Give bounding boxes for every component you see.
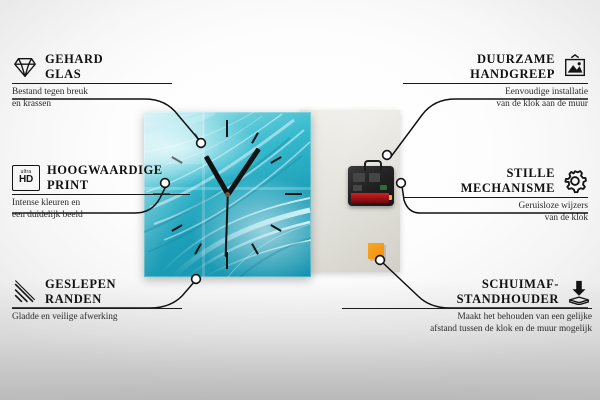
feature-desc-line1: Eenvoudige installatie [403, 87, 588, 98]
feature-schuimafstandhouder[interactable]: SCHUIMAF- STANDHOUDER Maakt het behouden… [342, 277, 592, 335]
feature-stille-mechanisme[interactable]: STILLE MECHANISME Geruisloze wijzers van… [403, 166, 588, 224]
feature-duurzame-handgreep[interactable]: DUURZAME HANDGREEP Eenvoudige installati… [403, 52, 588, 110]
feature-title-line1: DUURZAME [470, 52, 555, 67]
feature-title-line2: RANDEN [45, 292, 116, 307]
diagonal-lines-icon [12, 279, 38, 305]
divider [12, 194, 190, 195]
movement-detail [353, 185, 362, 191]
feature-desc-line1: Gladde en veilige afwerking [12, 312, 182, 323]
divider [403, 197, 588, 198]
feature-desc-line1: Intense kleuren en [12, 198, 190, 209]
feature-title-line2: MECHANISME [461, 181, 555, 196]
feature-hoogwaardige-print[interactable]: ultra HD HOOGWAARDIGE PRINT Intense kleu… [12, 163, 190, 221]
gear-icon [562, 168, 588, 194]
feature-title-line1: HOOGWAARDIGE [47, 163, 163, 178]
clock-tick [285, 193, 302, 195]
feature-gehard-glas[interactable]: GEHARD GLAS Bestand tegen breuk en krass… [12, 52, 172, 110]
movement-detail [380, 185, 387, 190]
feature-header: DUURZAME HANDGREEP [403, 52, 588, 81]
feature-header: ultra HD HOOGWAARDIGE PRINT [12, 163, 190, 192]
feature-desc-line2: van de klok [403, 213, 588, 224]
movement-detail [369, 173, 380, 182]
ultra-hd-bottom-label: HD [19, 175, 33, 185]
feature-desc-line2: afstand tussen de klok en de muur mogeli… [342, 324, 592, 335]
feature-header: STILLE MECHANISME [403, 166, 588, 195]
foam-spacer [368, 243, 384, 259]
feature-header: GESLEPEN RANDEN [12, 277, 182, 306]
feature-desc-line2: en krassen [12, 99, 172, 110]
picture-frame-icon [562, 54, 588, 80]
feature-title-line1: STILLE [461, 166, 555, 181]
feature-desc-line1: Maakt het behouden van een gelijke [342, 312, 592, 323]
ultra-hd-icon: ultra HD [12, 165, 40, 191]
feature-title-line2: PRINT [47, 178, 163, 193]
arrow-down-spacer-icon [566, 279, 592, 305]
divider [12, 308, 182, 309]
feature-header: GEHARD GLAS [12, 52, 172, 81]
feature-geslepen-randen[interactable]: GESLEPEN RANDEN Gladde en veilige afwerk… [12, 277, 182, 324]
feature-desc-line1: Geruisloze wijzers [403, 201, 588, 212]
feature-desc-line2: van de klok aan de muur [403, 99, 588, 110]
hanger-loop-icon [364, 160, 382, 171]
feature-desc-line1: Bestand tegen breuk [12, 87, 172, 98]
divider [403, 83, 588, 84]
divider [342, 308, 592, 309]
movement-detail [353, 173, 365, 182]
clock-tick [226, 120, 228, 137]
clock-center-cap [225, 192, 230, 197]
feature-header: SCHUIMAF- STANDHOUDER [342, 277, 592, 306]
diamond-icon [12, 54, 38, 80]
infographic-canvas: GEHARD GLAS Bestand tegen breuk en krass… [0, 0, 600, 400]
feature-desc-line2: een duidelijk beeld [12, 210, 190, 221]
feature-title-line1: SCHUIMAF- [457, 277, 559, 292]
feature-title-line1: GESLEPEN [45, 277, 116, 292]
divider [12, 83, 172, 84]
feature-title-line2: STANDHOUDER [457, 292, 559, 307]
feature-title-line2: HANDGREEP [470, 67, 555, 82]
quartz-movement [348, 166, 394, 206]
battery [351, 193, 389, 203]
feature-title-line2: GLAS [45, 67, 103, 82]
feature-title-line1: GEHARD [45, 52, 103, 67]
